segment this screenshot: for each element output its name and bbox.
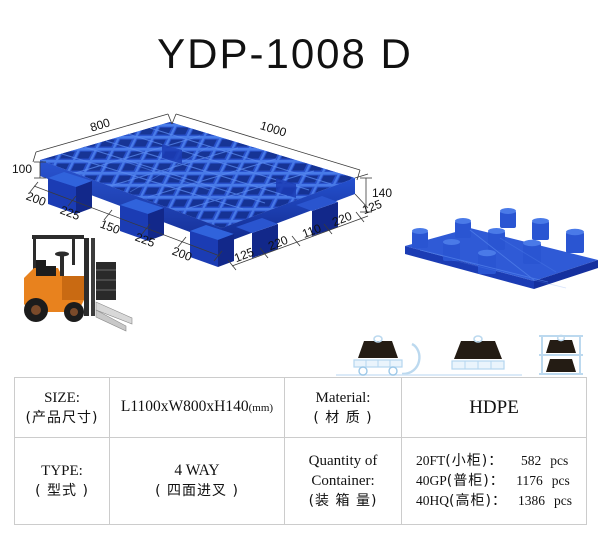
illustration-area: 800 1000 100 140 200 225 150 225 200 125…	[0, 100, 600, 358]
container-qty-value-cell: 20FT(小柜)：582pcs 40GP(普柜)：1176pcs 40HQ(高柜…	[402, 438, 587, 525]
container-code: 40GP	[416, 473, 447, 488]
container-count: 1176	[505, 471, 543, 490]
container-qty-list: 20FT(小柜)：582pcs 40GP(普柜)：1176pcs 40HQ(高柜…	[416, 451, 572, 511]
table-row: SIZE: (产品尺寸) L1100xW800xH140(mm) Materia…	[15, 378, 587, 438]
static-load-icon	[440, 332, 522, 378]
container-code-cn: (普柜)	[447, 473, 490, 489]
material-value-cell: HDPE	[402, 378, 587, 438]
size-label-en: SIZE:	[19, 388, 105, 408]
container-code-cn: (小柜)	[445, 453, 488, 469]
product-spec-sheet: YDP-1008 D	[0, 0, 600, 539]
list-item: 40GP(普柜)：1176pcs	[416, 471, 572, 491]
dimension-labels: 800 1000 100 140 200 225 150 225 200 125…	[0, 100, 600, 358]
dim-right-220-top: 220	[330, 209, 354, 229]
size-value-cell: L1100xW800xH140(mm)	[110, 378, 285, 438]
dim-right-125-bottom: 125	[232, 245, 256, 265]
container-sep: ：	[490, 473, 505, 489]
container-sep: ：	[488, 453, 503, 469]
container-code: 20FT	[416, 453, 445, 468]
dynamic-load-icon	[336, 332, 440, 378]
dim-front-225-right: 225	[133, 230, 157, 250]
dim-right-125-top: 125	[360, 197, 384, 217]
material-label-en: Material:	[289, 388, 397, 408]
container-unit: pcs	[554, 493, 572, 508]
list-item: 20FT(小柜)：582pcs	[416, 451, 572, 471]
container-unit: pcs	[552, 473, 570, 488]
type-value-cell: 4 WAY ( 四面进叉 )	[110, 438, 285, 525]
container-label-line1: Quantity of	[289, 451, 397, 471]
type-label-en: TYPE:	[19, 461, 105, 481]
container-code: 40HQ	[416, 493, 449, 508]
dim-front-200-left: 200	[24, 189, 48, 209]
dim-front-200-right: 200	[170, 244, 194, 264]
container-count: 582	[503, 451, 541, 470]
dim-right-220-bottom: 220	[266, 233, 290, 253]
page-title: YDP-1008 D	[0, 30, 600, 78]
list-item: 40HQ(高柜)：1386pcs	[416, 491, 572, 511]
container-count: 1386	[507, 491, 545, 510]
container-qty-label-cell: Quantity of Container: (装 箱 量)	[285, 438, 402, 525]
size-label-cell: SIZE: (产品尺寸)	[15, 378, 110, 438]
container-code-cn: (高柜)	[449, 493, 492, 509]
container-label-cn: (装 箱 量)	[289, 491, 397, 511]
dim-right-110: 110	[300, 221, 323, 241]
rack-load-icon	[528, 332, 594, 378]
table-row: TYPE: ( 型式 ) 4 WAY ( 四面进叉 ) Quantity of …	[15, 438, 587, 525]
dim-front-225-left: 225	[58, 203, 82, 223]
container-unit: pcs	[550, 453, 568, 468]
dim-front-150: 150	[98, 217, 122, 237]
type-value-en: 4 WAY	[114, 460, 280, 481]
type-value-cn: ( 四面进叉 )	[114, 481, 280, 502]
size-value: L1100xW800xH140	[121, 398, 249, 415]
container-sep: ：	[492, 493, 507, 509]
size-unit: (mm)	[249, 402, 273, 414]
dim-width-800: 800	[88, 115, 111, 134]
container-label-line2: Container:	[289, 471, 397, 491]
dim-height-100: 100	[12, 162, 32, 176]
specification-table: SIZE: (产品尺寸) L1100xW800xH140(mm) Materia…	[14, 377, 587, 525]
size-label-cn: (产品尺寸)	[19, 408, 105, 428]
dim-length-1000: 1000	[259, 118, 289, 139]
type-label-cn: ( 型式 )	[19, 481, 105, 501]
type-label-cell: TYPE: ( 型式 )	[15, 438, 110, 525]
material-label-cell: Material: ( 材 质 )	[285, 378, 402, 438]
material-label-cn: ( 材 质 )	[289, 408, 397, 428]
